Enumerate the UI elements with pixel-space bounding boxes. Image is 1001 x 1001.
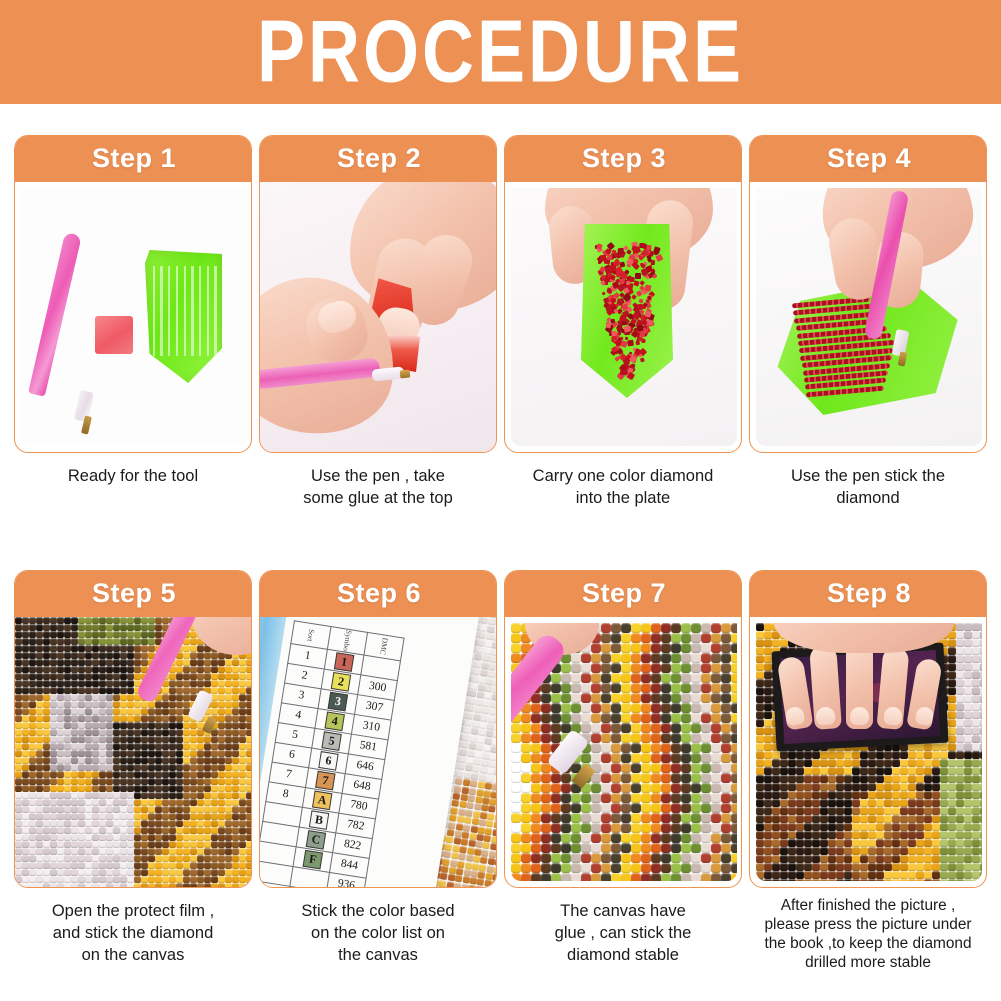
diamond-drill [611,713,621,723]
diamond-drill [531,793,541,803]
diamond-drill [531,833,541,843]
diamond-drill [780,791,788,799]
diamond-drill [948,671,956,679]
diamond-drill [511,733,521,743]
diamond-drill [932,815,940,823]
diamond-drill [860,823,868,831]
diamond-drill [892,775,900,783]
diamond-drill [490,746,497,754]
diamond-drill [57,743,64,750]
diamond-drill [884,751,892,759]
diamond-drill [956,863,964,871]
diamond-drill [78,855,85,862]
diamond-drill [868,871,876,879]
diamond-drill [64,631,71,638]
diamond-drill [621,673,631,683]
caption-line: the book ,to keep the diamond [741,934,995,953]
diamond-drill [691,663,701,673]
diamond-drill [691,833,701,843]
diamond-drill [860,855,868,863]
diamond-drill [541,823,551,833]
diamond-drill [106,722,113,729]
diamond-drill [956,879,964,881]
diamond-drill [521,763,531,773]
diamond-drill [155,624,162,631]
diamond-drill [788,815,796,823]
diamond-drill [57,666,64,673]
chart-symbol-swatch: 1 [334,652,354,672]
diamond-drill [796,823,804,831]
diamond-drill [176,708,183,715]
diamond-drill [691,743,701,753]
diamond-drill [218,715,225,722]
diamond-drill [127,883,134,888]
diamond-drill [671,813,681,823]
diamond-drill [92,729,99,736]
diamond-drill [701,773,711,783]
diamond-drill [85,862,92,869]
diamond-drill [134,750,141,757]
diamond-drill [756,863,764,871]
diamond-drill [932,807,940,815]
diamond-drill [980,687,982,695]
diamond-drill [551,853,561,863]
diamond-drill [756,799,764,807]
diamond-drill [29,820,36,827]
diamond-drill [932,839,940,847]
diamond-drill [868,823,876,831]
diamond-drill [940,839,948,847]
diamond-drill [155,771,162,778]
diamond-drill [239,876,246,883]
diamond-drill [50,799,57,806]
diamond-drill [204,820,211,827]
diamond-drill [681,843,691,853]
diamond-drill [780,815,788,823]
diamond-drill [176,757,183,764]
diamond-drill [828,871,836,879]
diamond-drill [183,736,190,743]
diamond-drill [551,863,561,873]
diamond-drill [85,617,92,624]
diamond-drill [631,673,641,683]
diamond-drill [731,663,737,673]
diamond-drill [972,759,980,767]
diamond-drill [924,767,932,775]
diamond-drill [804,815,812,823]
diamond-drill [190,848,197,855]
diamond-drill [916,863,924,871]
diamond-drill [64,869,71,876]
diamond-drill [661,813,671,823]
diamond-drill [197,862,204,869]
diamond-drill [932,783,940,791]
diamond-drill [721,753,731,763]
diamond-drill [162,827,169,834]
diamond-drill [641,753,651,763]
step-card-7[interactable]: Step 7 The canvas have glue , can stick … [504,570,742,888]
diamond-drill [169,841,176,848]
step-card-3[interactable]: Step 3 Carry one color diamond into the … [504,135,742,453]
diamond-drill [134,757,141,764]
diamond-drill [611,623,621,633]
diamond-drill [494,671,497,679]
diamond-drill [92,848,99,855]
diamond-drill [900,823,908,831]
diamond-canvas [15,617,252,888]
diamond-drill [99,631,106,638]
diamond-drill [15,869,22,876]
diamond-drill [134,771,141,778]
diamond-drill [50,862,57,869]
diamond-drill [155,701,162,708]
diamond-drill [176,666,183,673]
diamond-drill [671,763,681,773]
diamond-drill [162,785,169,792]
diamond-drill [232,687,239,694]
caption-line: Use the pen , take [259,465,497,487]
diamond-drill [772,759,780,767]
diamond-drill [113,785,120,792]
diamond-drill [964,807,972,815]
step-card-6[interactable]: Step 6 SortSymbolDMC 1122300333074431055… [259,570,497,888]
diamond-drill [148,771,155,778]
diamond-drill [980,679,982,687]
diamond-drill [113,673,120,680]
diamond-drill [106,680,113,687]
diamond-drill [197,666,204,673]
diamond-drill [106,729,113,736]
diamond-drill [521,823,531,833]
diamond-drill [15,848,22,855]
diamond-drill [204,855,211,862]
diamond-drill [868,839,876,847]
diamond-drill [169,680,176,687]
diamond-drill [85,701,92,708]
diamond-drill [611,743,621,753]
diamond-drill [581,863,591,873]
diamond-drill [99,736,106,743]
diamond-drill [71,624,78,631]
diamond-drill [551,733,561,743]
diamond-drill [211,666,218,673]
page-title: PROCEDURE [257,8,744,96]
diamond-drill [148,806,155,813]
diamond-drill [721,783,731,793]
diamond-drill [691,633,701,643]
diamond-drill [721,683,731,693]
step-card-5[interactable]: Step 5 Open the protect film , and stick… [14,570,252,888]
diamond-drill [169,799,176,806]
diamond-drill [169,876,176,883]
diamond-drill [651,623,661,633]
diamond-drill [551,843,561,853]
diamond-drill [57,855,64,862]
diamond-drill [57,729,64,736]
diamond-drill [900,759,908,767]
diamond-drill [99,617,106,624]
diamond-drill [127,631,134,638]
diamond-drill [99,701,106,708]
diamond-drill [78,778,85,785]
step-card-8[interactable]: Step 8 After finished the picture , plea… [749,570,987,888]
diamond-drill [828,791,836,799]
diamond-drill [876,799,884,807]
diamond-drill [908,847,916,855]
diamond-drill [764,751,772,759]
diamond-drill [43,841,50,848]
caption-line: Open the protect film , [14,900,252,922]
diamond-drill [71,827,78,834]
diamond-drill [204,883,211,888]
diamond-drill [36,722,43,729]
diamond-drill [120,750,127,757]
diamond-drill [134,778,141,785]
diamond-drill [731,773,737,783]
diamond-drill [691,813,701,823]
diamond-drill [551,783,561,793]
diamond-drill [183,876,190,883]
diamond-drill [972,855,980,863]
diamond-drill [531,733,541,743]
diamond-drill [980,711,982,719]
diamond-drill [780,879,788,881]
diamond-drill [972,807,980,815]
diamond-drill [681,823,691,833]
diamond-drill [956,735,964,743]
diamond-drill [134,631,141,638]
diamond-drill [190,729,197,736]
diamond-drill [884,839,892,847]
diamond-drill [169,673,176,680]
diamond-drill [980,759,982,767]
diamond-drill [155,820,162,827]
diamond-drill [92,820,99,827]
diamond-drill [134,701,141,708]
diamond-drill [22,617,29,624]
step-card-1[interactable]: Step 1 Ready for the tool [14,135,252,453]
diamond-drill [85,771,92,778]
diamond-drill [99,750,106,757]
diamond-drill [232,673,239,680]
diamond-drill [681,813,691,823]
diamond-drill [92,757,99,764]
diamond-drill [155,806,162,813]
diamond-drill [731,713,737,723]
diamond-drill [940,815,948,823]
diamond-drill [980,871,982,879]
step-8-label: Step 8 [827,578,911,609]
diamond-drill [475,743,483,751]
diamond-drill [828,855,836,863]
diamond-drill [581,693,591,703]
diamond-drill [141,715,148,722]
diamond-drill [511,743,521,753]
diamond-drill [581,833,591,843]
diamond-drill [631,653,641,663]
diamond-drill [197,673,204,680]
diamond-drill [836,871,844,879]
diamond-drill [211,680,218,687]
diamond-drill [246,750,252,757]
diamond-drill [521,803,531,813]
diamond-drill [92,806,99,813]
step-card-4[interactable]: Step 4 Use the pen stick the diamond [749,135,987,453]
diamond-drill [120,813,127,820]
diamond-drill [601,763,611,773]
diamond-drill [621,753,631,763]
diamond-drill [551,833,561,843]
diamond-drill [239,659,246,666]
diamond-drill [621,793,631,803]
diamond-drill [197,813,204,820]
diamond-drill [948,727,956,735]
diamond-drill [134,652,141,659]
diamond-drill [721,723,731,733]
diamond-drill [232,729,239,736]
step-6-label: Step 6 [337,578,421,609]
diamond-drill [43,848,50,855]
diamond-drill [15,883,22,888]
diamond-drill [621,713,631,723]
step-card-2[interactable]: Step 2 Use the pen [259,135,497,453]
diamond-drill [57,645,64,652]
diamond-drill [169,827,176,834]
diamond-drill [15,701,22,708]
diamond-drill [721,853,731,863]
diamond-drill [169,757,176,764]
diamond-drill [162,820,169,827]
diamond-drill [820,799,828,807]
diamond-drill [661,843,671,853]
diamond-drill [120,771,127,778]
diamond-drill [211,841,218,848]
diamond-drill [820,871,828,879]
diamond-drill [721,733,731,743]
diamond-drill [948,823,956,831]
diamond-drill [711,763,721,773]
diamond-drill [127,876,134,883]
diamond-drill [120,841,127,848]
diamond-drill [134,645,141,652]
diamond-drill [900,815,908,823]
diamond-drill [948,687,956,695]
diamond-drill [948,815,956,823]
diamond-drill [844,759,852,767]
diamond-drill [155,792,162,799]
diamond-drill [155,841,162,848]
diamond-drill [561,663,571,673]
diamond-drill [43,729,50,736]
diamond-drill [246,666,252,673]
diamond-drill [661,623,671,633]
diamond-drill [671,843,681,853]
diamond-drill [691,783,701,793]
diamond-drill [85,757,92,764]
diamond-drill [29,694,36,701]
diamond-drill [29,722,36,729]
diamond-drill [92,638,99,645]
diamond-drill [183,694,190,701]
diamond-drill [561,803,571,813]
diamond-drill [57,687,64,694]
diamond-drill [211,848,218,855]
diamond-drill [29,652,36,659]
diamond-drill [780,871,788,879]
diamond-drill [531,843,541,853]
diamond-drill [820,831,828,839]
diamond-drill [495,859,497,867]
diamond-drill [924,783,932,791]
diamond-drill [225,876,232,883]
diamond-drill [521,843,531,853]
diamond-drill [85,806,92,813]
diamond-drill [908,799,916,807]
diamond-drill [43,680,50,687]
diamond-drill [756,631,764,639]
diamond-drill [211,729,218,736]
diamond-drill [980,791,982,799]
diamond-drill [141,792,148,799]
diamond-drill [29,631,36,638]
diamond-drill [641,673,651,683]
diamond-drill [148,729,155,736]
diamond-drill [828,847,836,855]
diamond-drill [120,799,127,806]
diamond-drill [141,645,148,652]
diamond-drill [876,879,884,881]
diamond-drill [860,871,868,879]
diamond-drill [239,841,246,848]
diamond-drill [183,855,190,862]
diamond-drill [99,673,106,680]
diamond-drill [691,713,701,723]
diamond-drill [204,841,211,848]
diamond-drill [661,663,671,673]
diamond-drill [892,759,900,767]
diamond-drill [204,792,211,799]
diamond-drill [239,673,246,680]
diamond-drill [22,729,29,736]
diamond-drill [611,773,621,783]
diamond-drill [772,831,780,839]
diamond-drill [36,771,43,778]
diamond-drill [868,879,876,881]
diamond-drill [232,666,239,673]
diamond-drill [551,703,561,713]
diamond-drill [956,871,964,879]
diamond-drill [671,793,681,803]
diamond-drill [711,853,721,863]
diamond-drill [155,729,162,736]
diamond-drill [591,833,601,843]
diamond-drill [120,694,127,701]
diamond-drill [99,778,106,785]
diamond-drill [772,783,780,791]
diamond-drill [211,659,218,666]
diamond-drill [581,673,591,683]
diamond-drill [57,722,64,729]
diamond-drill [804,751,812,759]
diamond-drill [756,663,764,671]
diamond-drill [772,807,780,815]
diamond-drill [860,807,868,815]
diamond-drill [661,683,671,693]
diamond-drill [211,813,218,820]
diamond-drill [671,623,681,633]
diamond-drill [661,783,671,793]
diamond-drill [127,729,134,736]
